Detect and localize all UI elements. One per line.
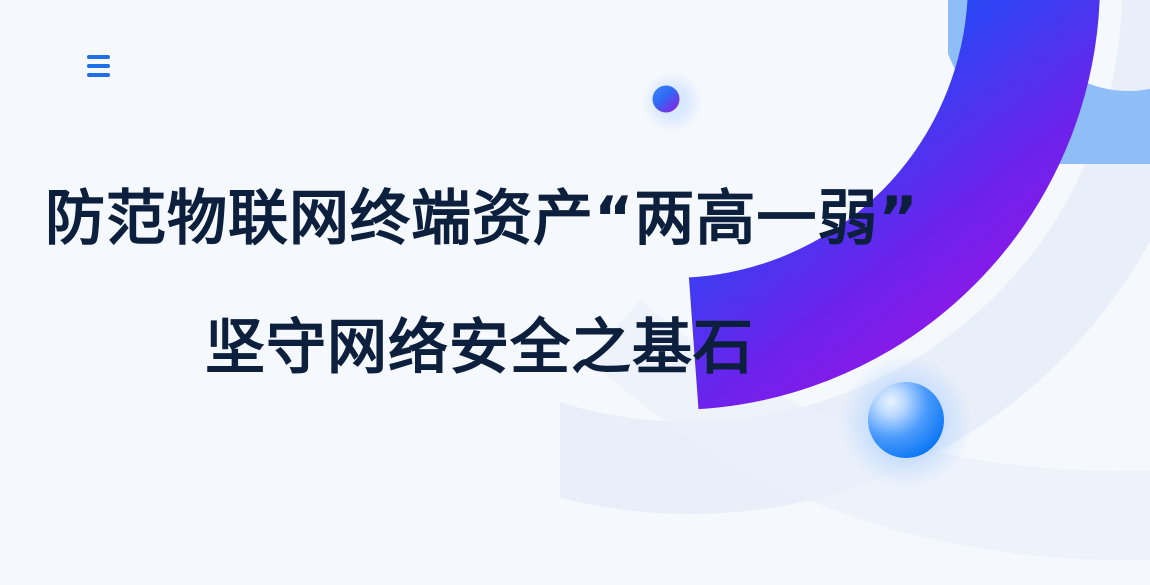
page-title: 防范物联网终端资产“两高一弱” 坚守网络安全之基石	[0, 186, 880, 382]
hamburger-bar-1	[87, 55, 110, 59]
small-sphere-glow	[642, 72, 702, 132]
small-gradient-sphere	[653, 86, 680, 113]
title-line-1: 防范物联网终端资产“两高一弱”	[45, 186, 880, 253]
title-line-2: 坚守网络安全之基石	[205, 315, 880, 382]
slide-canvas: 防范物联网终端资产“两高一弱” 坚守网络安全之基石	[0, 0, 1150, 585]
light-blue-arc	[978, 0, 1150, 134]
hamburger-bar-3	[87, 73, 110, 77]
hamburger-bar-2	[87, 64, 110, 68]
blue-sphere	[868, 382, 944, 458]
hamburger-menu-icon[interactable]	[78, 46, 118, 86]
